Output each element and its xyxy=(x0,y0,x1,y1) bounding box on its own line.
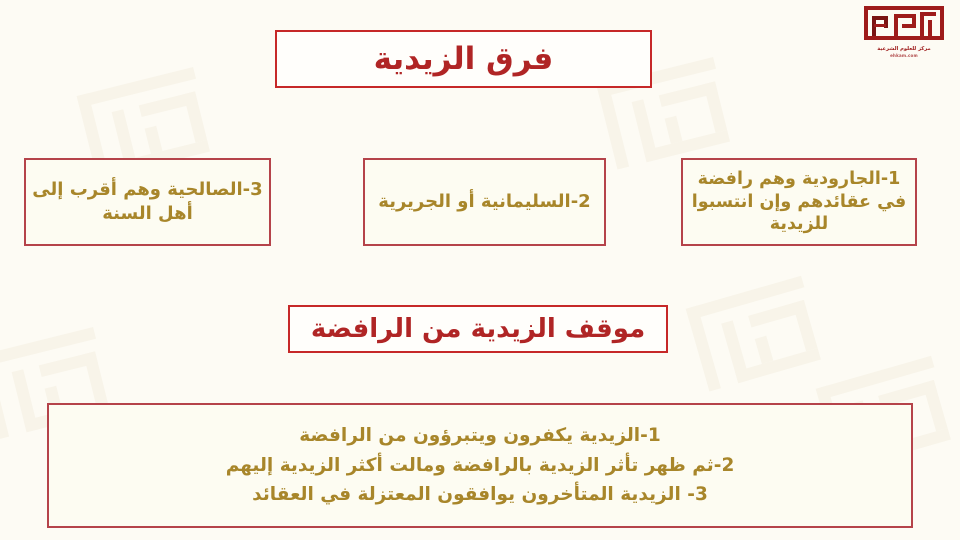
sect-box-jarudiyya: 1-الجارودية وهم رافضة في عقائدهم وإن انت… xyxy=(681,158,917,246)
sect-label-2: 2-السليمانية أو الجريرية xyxy=(371,190,598,214)
position-points-box: 1-الزيدية يكفرون ويتبرؤون من الرافضة 2-ث… xyxy=(47,403,913,528)
ehkam-logo-subtitle-text: مركز للعلوم الشرعية xyxy=(877,46,931,52)
watermark-mark xyxy=(678,261,853,408)
ehkam-logo-mark xyxy=(862,6,946,46)
section-heading-text: موقف الزيدية من الرافضة xyxy=(311,314,645,344)
position-point-3: 3- الزيدية المتأخرون يوافقون المعتزلة في… xyxy=(55,480,905,510)
position-points-list: 1-الزيدية يكفرون ويتبرؤون من الرافضة 2-ث… xyxy=(55,421,905,511)
slide-title-box: فرق الزيدية xyxy=(275,30,652,88)
slide-canvas: مركز للعلوم الشرعية ehkam.com فرق الزيدي… xyxy=(0,0,960,540)
position-point-2: 2-ثم ظهر تأثر الزيدية بالرافضة ومالت أكث… xyxy=(55,451,905,481)
ehkam-logo-url: ehkam.com xyxy=(862,53,946,58)
ehkam-logo-subtitle: مركز للعلوم الشرعية ehkam.com xyxy=(862,46,946,58)
sect-box-sulaymaniyya: 2-السليمانية أو الجريرية xyxy=(363,158,606,246)
sect-label-3: 3-الصالحية وهم أقرب إلى أهل السنة xyxy=(32,178,263,226)
position-point-1: 1-الزيدية يكفرون ويتبرؤون من الرافضة xyxy=(55,421,905,451)
page-title: فرق الزيدية xyxy=(374,41,554,77)
sect-box-salihiyya: 3-الصالحية وهم أقرب إلى أهل السنة xyxy=(24,158,271,246)
section-heading-box: موقف الزيدية من الرافضة xyxy=(288,305,668,353)
sect-label-1: 1-الجارودية وهم رافضة في عقائدهم وإن انت… xyxy=(689,168,909,236)
ehkam-logo: مركز للعلوم الشرعية ehkam.com xyxy=(862,6,946,62)
